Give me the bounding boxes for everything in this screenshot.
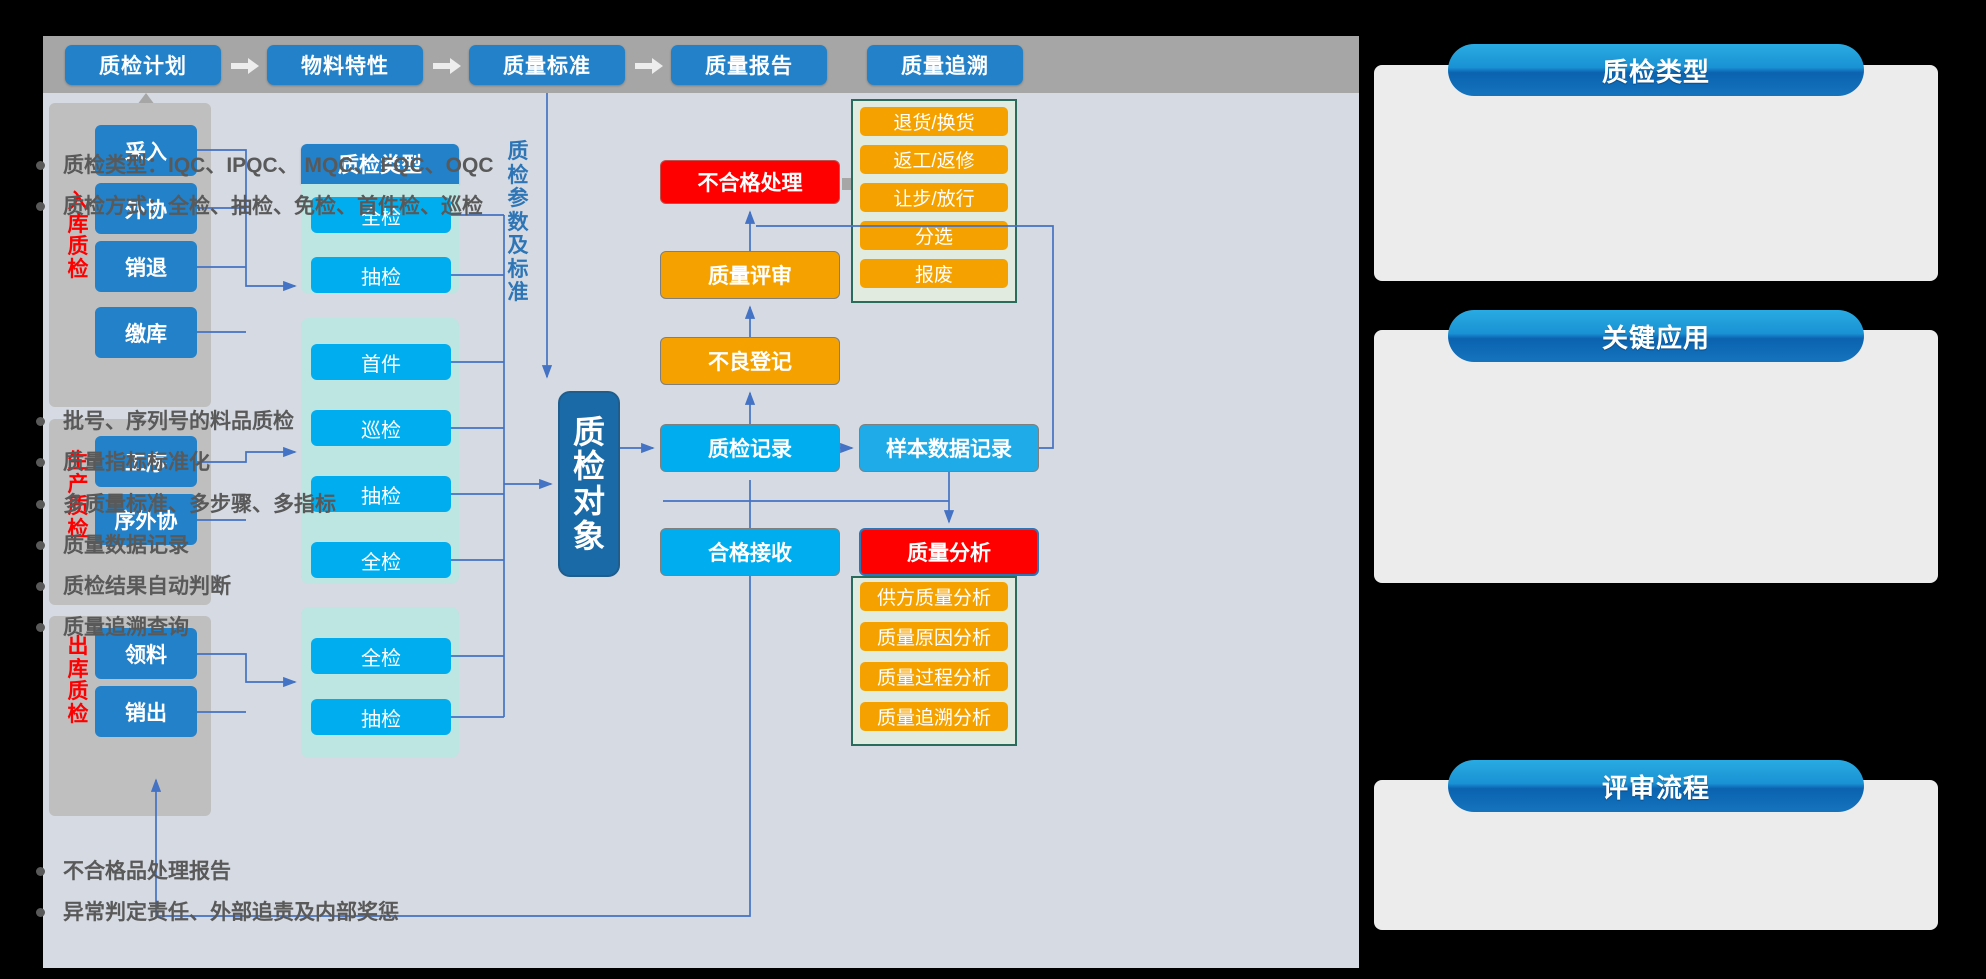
quality-analysis-item-2[interactable]: 质量过程分析 — [860, 662, 1008, 691]
top-flow-item-1[interactable]: 物料特性 — [267, 45, 423, 85]
quality-analysis-item-3[interactable]: 质量追溯分析 — [860, 702, 1008, 731]
side-panel-bullets-2: 不合格品处理报告 异常判定责任、外部追责及内部奖惩 — [36, 858, 548, 941]
bullet-item: 质检类型：IQC、IPQC、 MQC、 FQC、OQC — [36, 152, 548, 179]
bullet-item: 质量追溯查询 — [36, 614, 548, 641]
process-inspection-record[interactable]: 质检记录 — [660, 424, 840, 472]
top-flow-arrow-2 — [635, 58, 663, 74]
side-panel-title-0: 质检类型 — [1448, 44, 1864, 96]
bullet-dot-icon — [36, 161, 45, 170]
process-nonconforming[interactable]: 不合格处理 — [660, 160, 840, 204]
bullet-dot-icon — [36, 582, 45, 591]
top-flow-item-4[interactable]: 质量追溯 — [867, 45, 1023, 85]
top-flow-item-3[interactable]: 质量报告 — [671, 45, 827, 85]
bullet-dot-icon — [36, 417, 45, 426]
top-flow-item-0[interactable]: 质检计划 — [65, 45, 221, 85]
nonconforming-action-1[interactable]: 返工/返修 — [860, 145, 1008, 174]
bullet-item: 质量数据记录 — [36, 532, 548, 559]
top-flow-label-3: 质量报告 — [705, 50, 793, 80]
bullet-item: 批号、序列号的料品质检 — [36, 408, 548, 435]
bullet-dot-icon — [36, 623, 45, 632]
nonconforming-action-4[interactable]: 报废 — [860, 259, 1008, 288]
top-flow-item-2[interactable]: 质量标准 — [469, 45, 625, 85]
quality-analysis-item-1[interactable]: 质量原因分析 — [860, 622, 1008, 651]
bullet-item: 质检方式：全检、抽检、免检、首件检、巡检 — [36, 193, 548, 220]
process-defect-register[interactable]: 不良登记 — [660, 337, 840, 385]
bullet-item: 不合格品处理报告 — [36, 858, 548, 885]
nonconforming-action-3[interactable]: 分选 — [860, 221, 1008, 250]
source-item-销出[interactable]: 销出 — [95, 686, 197, 737]
side-panel-title-2-visible: 评审流程 — [1448, 760, 1864, 812]
side-panel-0 — [1374, 65, 1938, 281]
source-item-缴库[interactable]: 缴库 — [95, 307, 197, 358]
process-quality-review[interactable]: 质量评审 — [660, 251, 840, 299]
bullet-dot-icon — [36, 908, 45, 917]
bullet-dot-icon — [36, 500, 45, 509]
inspection-type-item-2-1[interactable]: 抽检 — [311, 699, 451, 735]
side-panel-title-1: 关键应用 — [1448, 310, 1864, 362]
top-flow-label-1: 物料特性 — [301, 50, 389, 80]
quality-analysis-item-0[interactable]: 供方质量分析 — [860, 582, 1008, 611]
bullet-item: 质检结果自动判断 — [36, 573, 548, 600]
top-flow-label-4: 质量追溯 — [901, 50, 989, 80]
inspection-type-item-1-0[interactable]: 首件 — [311, 344, 451, 380]
source-item-销退[interactable]: 销退 — [95, 241, 197, 292]
bullet-item: 多质量标准、多步骤、多指标 — [36, 491, 548, 518]
top-flow-arrow-1 — [433, 58, 461, 74]
side-panel-bullets-1: 批号、序列号的料品质检 质量指标标准化 多质量标准、多步骤、多指标 质量数据记录… — [36, 408, 548, 656]
process-quality-analysis[interactable]: 质量分析 — [859, 528, 1039, 576]
inspection-object-box[interactable]: 质检对象 — [558, 391, 620, 577]
process-sample-data-record[interactable]: 样本数据记录 — [859, 424, 1039, 472]
bullet-dot-icon — [36, 202, 45, 211]
bullet-dot-icon — [36, 867, 45, 876]
bullet-dot-icon — [36, 458, 45, 467]
diagram-root: 质检计划 物料特性 质量标准 质量报告 质量追溯 入库质检 采入 外协 销退 缴… — [0, 0, 1986, 979]
process-pass-accept[interactable]: 合格接收 — [660, 528, 840, 576]
top-flow-arrow-0 — [231, 58, 259, 74]
bullet-item: 异常判定责任、外部追责及内部奖惩 — [36, 899, 548, 926]
top-flow-label-2: 质量标准 — [503, 50, 591, 80]
bullet-dot-icon — [36, 541, 45, 550]
inspection-type-item-0-1[interactable]: 抽检 — [311, 257, 451, 293]
nonconforming-action-0[interactable]: 退货/换货 — [860, 107, 1008, 136]
side-panel-1 — [1374, 330, 1938, 583]
nonconforming-action-2[interactable]: 让步/放行 — [860, 183, 1008, 212]
bullet-item: 质量指标标准化 — [36, 449, 548, 476]
side-panel-bullets-0: 质检类型：IQC、IPQC、 MQC、 FQC、OQC 质检方式：全检、抽检、免… — [36, 152, 548, 235]
top-flow-label-0: 质检计划 — [99, 50, 187, 80]
